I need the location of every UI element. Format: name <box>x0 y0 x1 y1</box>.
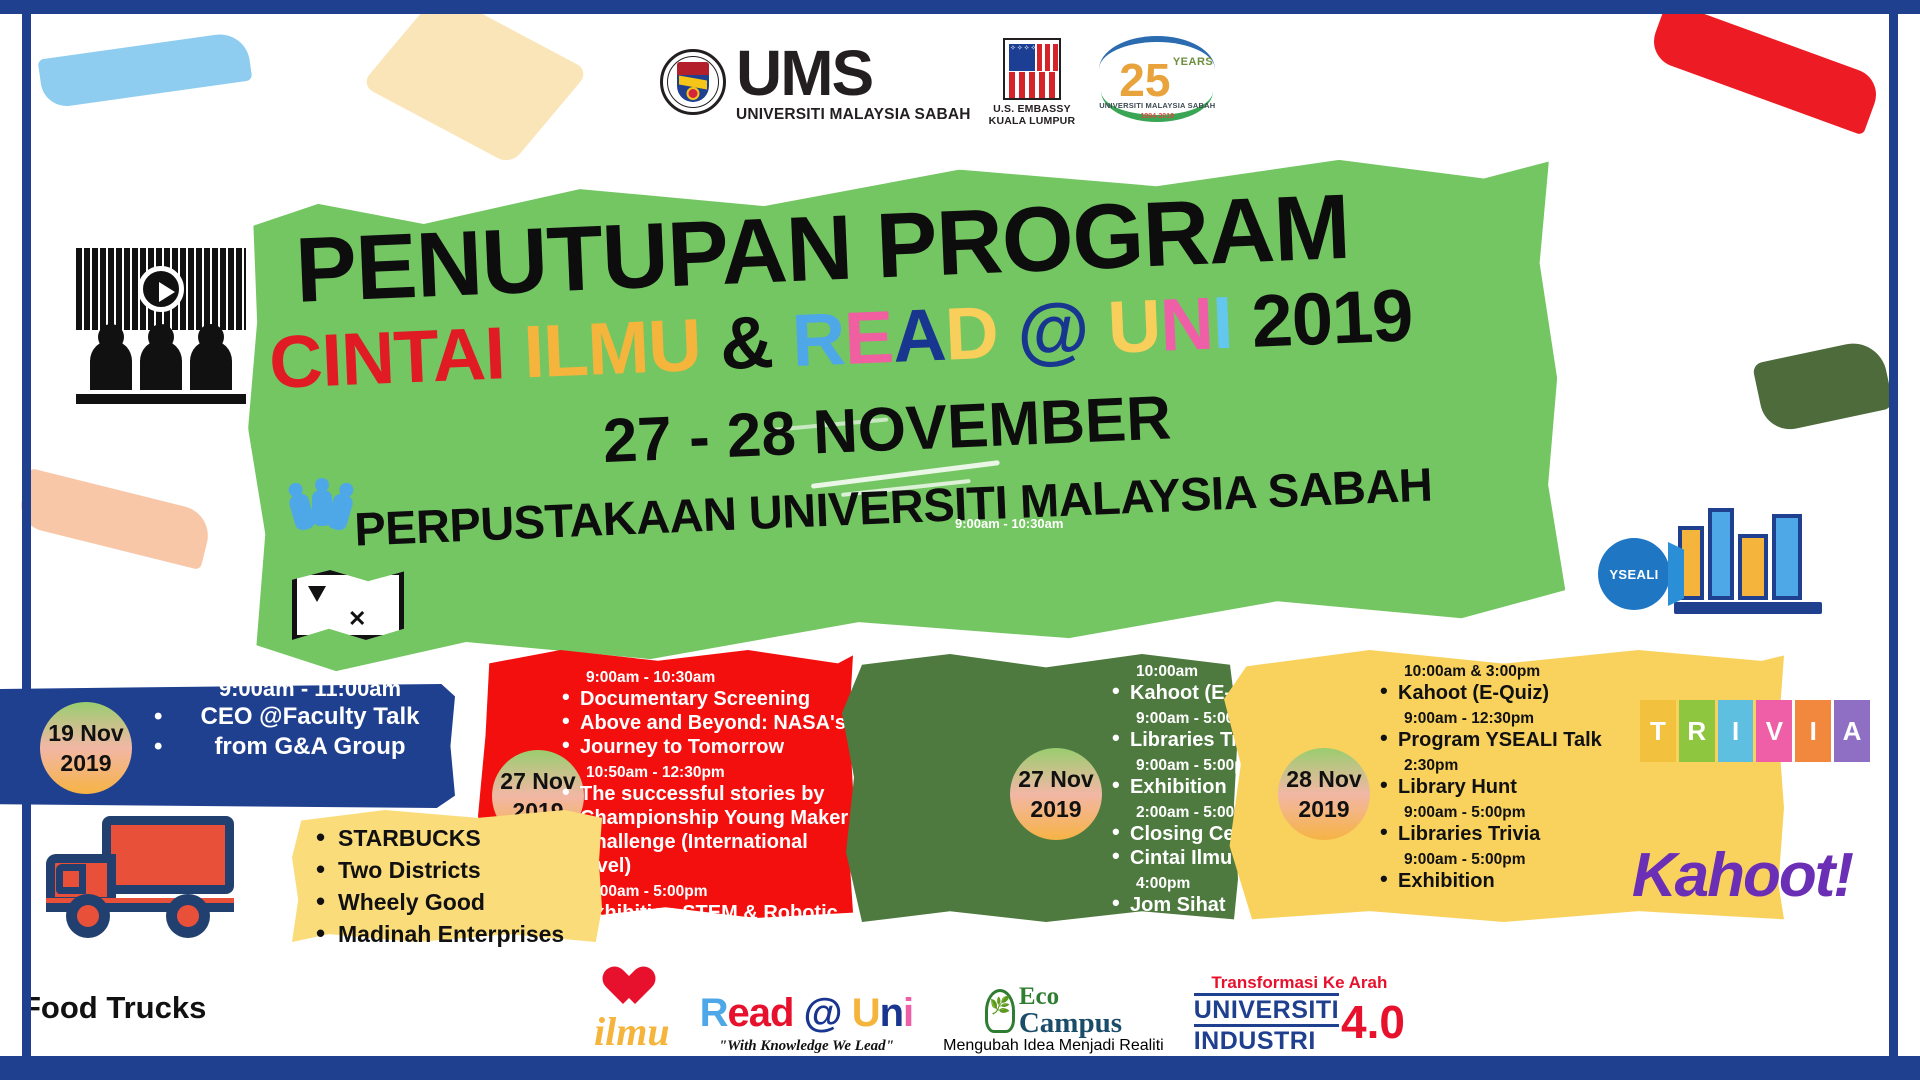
ilmu-logo: ilmu <box>600 968 670 1055</box>
event-27nov-red-2-name: The successful stories by <box>560 782 860 806</box>
date-circle-28nov-day: 28 Nov <box>1286 764 1361 794</box>
anniversary-sub: UNIVERSITI MALAYSIA SABAH <box>1093 101 1221 110</box>
books-shelf-icon <box>1674 498 1822 614</box>
list-item: Madinah Enterprises <box>312 918 612 950</box>
hero-micro-time: 9:00am - 10:30am <box>955 516 1063 531</box>
event-27nov-red-2-time: 10:50am - 12:30pm <box>586 763 860 782</box>
poster-canvas: UMS UNIVERSITI MALAYSIA SABAH U.S. EMBAS… <box>0 0 1920 1080</box>
readuni-part-at: @ <box>804 991 842 1035</box>
frame-left-border <box>22 14 31 1056</box>
ums-crest-icon <box>660 49 726 115</box>
event-27nov-red-1-cont: Above and Beyond: NASA's <box>560 711 860 735</box>
anniversary-range: 1994-2019 <box>1093 113 1221 120</box>
decor-stroke-cream <box>361 0 590 165</box>
eco-line2: Campus <box>1019 1009 1122 1037</box>
date-circle-19nov-day: 19 Nov <box>48 718 123 748</box>
presentation-screen-icon <box>76 248 246 428</box>
event-28nov-4-time: 9:00am - 5:00pm <box>1404 803 1678 822</box>
us-embassy-line2: KUALA LUMPUR <box>989 115 1076 127</box>
date-circle-28nov-year: 2019 <box>1298 794 1349 824</box>
subtitle-part-n: N <box>1158 282 1214 367</box>
frame-bottom-border <box>0 1056 1920 1080</box>
decor-stroke-blue <box>38 31 253 110</box>
yseali-badge-icon: YSEALI <box>1598 538 1670 610</box>
people-group-icon <box>290 478 350 534</box>
subtitle-part-u: U <box>1106 284 1162 369</box>
list-item: STARBUCKS <box>312 822 612 854</box>
event-28nov-1-time: 10:00am & 3:00pm <box>1404 662 1678 681</box>
event-19nov-1: 9:00am - 11:00am CEO @Faculty Talk from … <box>180 676 440 762</box>
readuni-tagline: "With Knowledge We Lead" <box>719 1038 894 1055</box>
date-circle-19nov-year: 2019 <box>60 748 111 778</box>
readuni-part-r: R <box>700 991 728 1035</box>
us-embassy-logo: U.S. EMBASSY KUALA LUMPUR <box>989 38 1076 127</box>
ums-logo-sub: UNIVERSITI MALAYSIA SABAH <box>736 107 971 123</box>
trivia-letter-i1: I <box>1718 700 1754 762</box>
header-logo-row: UMS UNIVERSITI MALAYSIA SABAH U.S. EMBAS… <box>660 22 1221 142</box>
date-circle-19nov: 19 Nov 2019 <box>40 702 132 794</box>
trivia-letter-a: A <box>1834 700 1870 762</box>
event-28nov-1-name: Kahoot (E-Quiz) <box>1378 681 1678 705</box>
trivia-letter-t: T <box>1640 700 1676 762</box>
hero-title-block: PENUTUPAN PROGRAM CINTAI ILMU & READ @ U… <box>294 169 1587 558</box>
food-trucks-label: Food Trucks <box>22 990 206 1026</box>
eco-campus-logo: Eco Campus Mengubah Idea Menjadi Realiti <box>943 985 1164 1055</box>
industri-40-logo: Transformasi Ke Arah UNIVERSITI INDUSTRI… <box>1194 973 1405 1055</box>
event-19nov-1-time: 9:00am - 11:00am <box>180 676 440 702</box>
event-28nov-3-time: 2:30pm <box>1404 756 1678 775</box>
ums-logo-main: UMS <box>736 41 971 105</box>
readuni-part-ead: ead <box>727 991 793 1035</box>
footer-logo-row: ilmu Read @ Uni "With Knowledge We Lead"… <box>600 968 1405 1055</box>
frame-top-border <box>0 0 1920 14</box>
subtitle-part-a: A <box>891 293 947 378</box>
trivia-letter-i2: I <box>1795 700 1831 762</box>
subtitle-part-year: 2019 <box>1250 273 1414 363</box>
subtitle-part-at: @ <box>1015 287 1090 373</box>
food-vendor-list: STARBUCKS Two Districts Wheely Good Madi… <box>312 822 612 950</box>
event-27nov-red-3-time: 9:00am - 5:00pm <box>586 882 860 901</box>
eco-tagline: Mengubah Idea Menjadi Realiti <box>943 1037 1164 1055</box>
trivia-letter-v: V <box>1756 700 1792 762</box>
event-27nov-red-1: 9:00am - 10:30am Documentary Screening A… <box>560 668 860 759</box>
event-19nov-1-name: CEO @Faculty Talk <box>180 702 440 732</box>
event-27nov-red-1-name: Documentary Screening <box>560 687 860 711</box>
industri-line1: Transformasi Ke Arah <box>1211 973 1387 993</box>
readuni-part-i: i <box>903 991 913 1035</box>
subtitle-part-cintai: CINTAI <box>268 311 506 404</box>
lightbulb-leaf-icon <box>985 989 1015 1033</box>
date-circle-27nov-green-year: 2019 <box>1030 794 1081 824</box>
ilmu-wordmark: ilmu <box>594 1008 670 1055</box>
decor-stroke-red <box>1647 0 1884 135</box>
kahoot-wordmark: Kahoot <box>1632 841 1834 910</box>
readuni-part-n: n <box>880 991 903 1035</box>
heart-icon <box>613 968 657 1008</box>
event-28nov-2: 9:00am - 12:30pm Program YSEALI Talk <box>1378 709 1678 752</box>
subtitle-part-e: E <box>843 295 895 380</box>
date-circle-27nov-green: 27 Nov 2019 <box>1010 748 1102 840</box>
event-28nov-1: 10:00am & 3:00pm Kahoot (E-Quiz) <box>1378 662 1678 705</box>
list-item: Two Districts <box>312 854 612 886</box>
event-28nov-2-time: 9:00am - 12:30pm <box>1404 709 1678 728</box>
trivia-logo: T R I V I A <box>1640 700 1870 762</box>
subtitle-part-r: R <box>790 297 846 382</box>
event-28nov-2-name: Program YSEALI Talk <box>1378 728 1678 752</box>
industri-line2: UNIVERSITI <box>1194 993 1339 1027</box>
food-truck-icon <box>40 810 240 940</box>
map-icon: ✕ <box>292 570 404 646</box>
subtitle-part-amp: & <box>718 300 774 385</box>
us-embassy-line1: U.S. EMBASSY <box>989 103 1076 115</box>
ums-25-years-logo: 25 YEARS UNIVERSITI MALAYSIA SABAH 1994-… <box>1093 30 1221 134</box>
readuni-part-u: U <box>852 991 880 1035</box>
event-27nov-green-5-cont: - Fit dance <box>1110 941 1350 965</box>
subtitle-part-ilmu: ILMU <box>522 303 702 393</box>
industri-line3: INDUSTRI <box>1194 1027 1339 1055</box>
ums-logo: UMS UNIVERSITI MALAYSIA SABAH <box>660 41 971 123</box>
event-27nov-red-1-time: 9:00am - 10:30am <box>586 668 860 687</box>
kahoot-exclamation: ! <box>1833 841 1852 910</box>
decor-stroke-green <box>1752 337 1894 434</box>
subtitle-part-i: I <box>1211 281 1234 365</box>
event-28nov-3-name: Library Hunt <box>1378 775 1678 799</box>
industri-version: 4.0 <box>1341 995 1405 1049</box>
frame-right-border <box>1889 14 1898 1056</box>
subtitle-part-d: D <box>943 291 999 376</box>
event-27nov-red-1-cont2: Journey to Tomorrow <box>560 735 860 759</box>
date-circle-27nov-green-day: 27 Nov <box>1018 764 1093 794</box>
date-circle-28nov: 28 Nov 2019 <box>1278 748 1370 840</box>
list-item: Wheely Good <box>312 886 612 918</box>
us-flag-icon <box>1003 38 1061 100</box>
eco-line1: Eco <box>1019 985 1122 1009</box>
trivia-letter-r: R <box>1679 700 1715 762</box>
event-28nov-3: 2:30pm Library Hunt <box>1378 756 1678 799</box>
decor-stroke-peach <box>16 468 214 570</box>
anniversary-years-label: YEARS <box>1173 56 1213 68</box>
read-at-uni-logo: Read @ Uni "With Knowledge We Lead" <box>700 991 914 1055</box>
event-19nov-1-cont: from G&A Group <box>180 732 440 762</box>
kahoot-logo: Kahoot! <box>1632 840 1852 911</box>
